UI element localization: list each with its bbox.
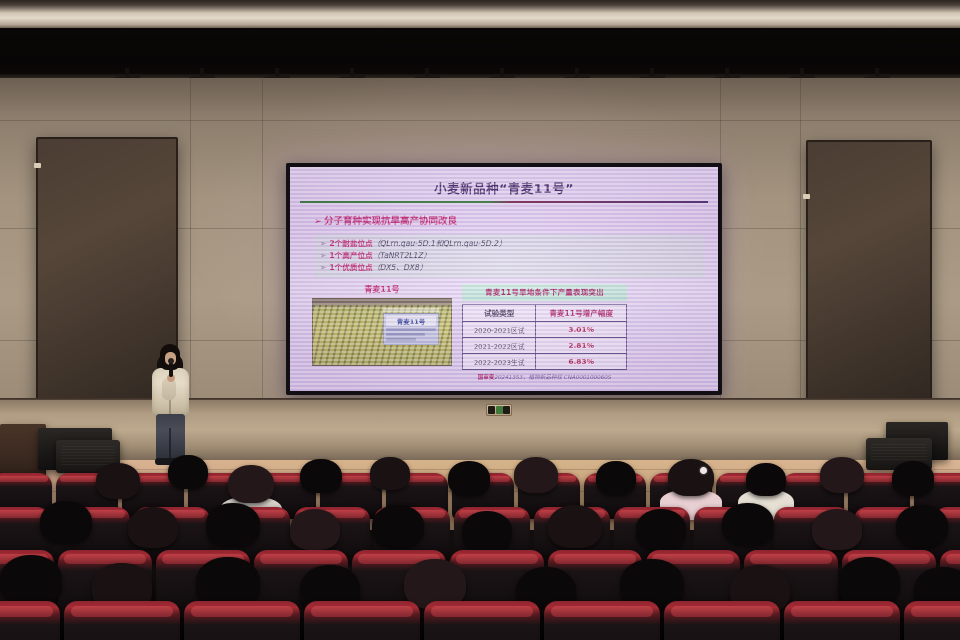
cell-trial: 2020-2021区试 [463,322,536,338]
audience-member [892,461,934,496]
microphone-icon [169,362,173,377]
auditorium-seat[interactable] [904,601,960,640]
auditorium-seat[interactable] [184,601,300,640]
field-sign: 青麦11号 [383,313,439,345]
auditorium-scene: 小麦新品种“青麦11号” ➢分子育种实现抗旱高产协同改良 ➢2个耐盐位点（QLr… [0,0,960,640]
audience-member [370,457,410,490]
locus-genes: （QLrn.qau-5D.1和QLrn.qau-5D.2） [373,239,507,248]
wheat-field-photo: 青麦11号 [312,298,452,366]
locus-label: 2个耐盐位点 [329,239,372,248]
stage-floor-outlet [486,404,512,416]
audience-member [722,503,774,545]
slide-headline: ➢分子育种实现抗旱高产协同改良 [314,213,710,227]
audience-member [40,501,92,543]
audience-member [548,505,602,548]
headline-chevron-icon: ➢ [314,216,322,227]
audience-member [96,463,140,499]
audience-member [812,509,862,550]
list-item: ➢2个耐盐位点（QLrn.qau-5D.1和QLrn.qau-5D.2） [320,238,698,250]
locus-genes: （TaNRT2L1Z） [373,251,431,260]
cell-gain: 2.81% [536,338,627,354]
stage-front-apron [0,400,960,460]
locus-label: 1个优质位点 [329,263,372,272]
audience-member [838,557,900,607]
table-footnote: 国审麦20241353，植物新品种权 CNA000100060S [462,373,627,381]
audience-member [746,463,786,496]
led-display-screen[interactable]: 小麦新品种“青麦11号” ➢分子育种实现抗旱高产协同改良 ➢2个耐盐位点（QLr… [286,163,722,395]
auditorium-seat[interactable] [544,601,660,640]
results-table-column: 青麦11号旱地条件下产量表现突出 试验类型 青麦11号增产幅度 2020- [462,284,627,381]
auditorium-seat[interactable] [0,601,60,640]
audience-member [820,457,864,493]
presentation-slide: 小麦新品种“青麦11号” ➢分子育种实现抗旱高产协同改良 ➢2个耐盐位点（QLr… [290,167,718,391]
field-sign-label: 青麦11号 [386,316,436,326]
audience-member [668,459,714,496]
table-row: 2021-2022区试 2.81% [463,338,627,354]
audience-member [290,509,340,550]
cell-trial: 2022-2023生试 [463,354,536,370]
column-header-trial: 试验类型 [463,305,536,322]
table-row: 2020-2021区试 3.01% [463,322,627,338]
photo-column: 青麦11号 青麦11号 [312,284,452,381]
auditorium-seat[interactable] [304,601,420,640]
list-item: ➢1个优质位点（DX5、DX8） [320,262,698,274]
photo-caption: 青麦11号 [312,284,452,295]
title-divider [300,201,708,203]
auditorium-seat[interactable] [664,601,780,640]
audience-member [372,505,424,547]
bullet-chevron-icon: ➢ [320,239,326,248]
headline-text: 分子育种实现抗旱高产协同改良 [324,216,457,227]
audience-member [636,509,686,550]
presenter-pants [156,414,185,460]
audience-member [896,505,948,547]
audience-member [300,459,342,493]
audience-member [168,455,208,489]
locus-label: 1个高产位点 [329,251,372,260]
auditorium-seat[interactable] [64,601,180,640]
cell-trial: 2021-2022区试 [463,338,536,354]
slide-title: 小麦新品种“青麦11号” [298,178,710,197]
loci-list: ➢2个耐盐位点（QLrn.qau-5D.1和QLrn.qau-5D.2） ➢1个… [314,234,704,278]
table-header-row: 试验类型 青麦11号增产幅度 [463,305,627,322]
table-row: 2022-2023生试 6.83% [463,354,627,370]
audience-member [228,465,274,503]
list-item: ➢1个高产位点（TaNRT2L1Z） [320,250,698,262]
locus-genes: （DX5、DX8） [373,263,428,272]
auditorium-seat[interactable] [784,601,900,640]
column-header-gain: 青麦11号增产幅度 [536,305,627,322]
audience-member [128,507,178,548]
hair-clip-icon [700,467,707,474]
audience-member [206,503,260,546]
auditorium-seat[interactable] [424,601,540,640]
slide-lower-section: 青麦11号 青麦11号 青麦11号旱地条件下产量表现突出 [298,284,710,381]
bullet-chevron-icon: ➢ [320,263,326,272]
audience-member [0,555,62,605]
acoustic-panel-right [806,140,932,412]
footnote-prefix: 国审麦 [478,375,495,381]
yield-results-table: 试验类型 青麦11号增产幅度 2020-2021区试 3.01% [462,304,627,370]
ceiling-soffit [0,0,960,28]
slide-surface: 小麦新品种“青麦11号” ➢分子育种实现抗旱高产协同改良 ➢2个耐盐位点（QLr… [290,167,718,391]
footnote-text: 20241353，植物新品种权 CNA000100060S [494,375,611,381]
audience-member [462,511,512,552]
cell-gain: 3.01% [536,322,627,338]
audience-member [514,457,558,493]
audience-member [448,461,490,496]
audience-member [596,461,636,495]
audience-seating [0,455,960,640]
table-banner: 青麦11号旱地条件下产量表现突出 [462,284,627,301]
cell-gain: 6.83% [536,354,627,370]
bullet-chevron-icon: ➢ [320,251,326,260]
